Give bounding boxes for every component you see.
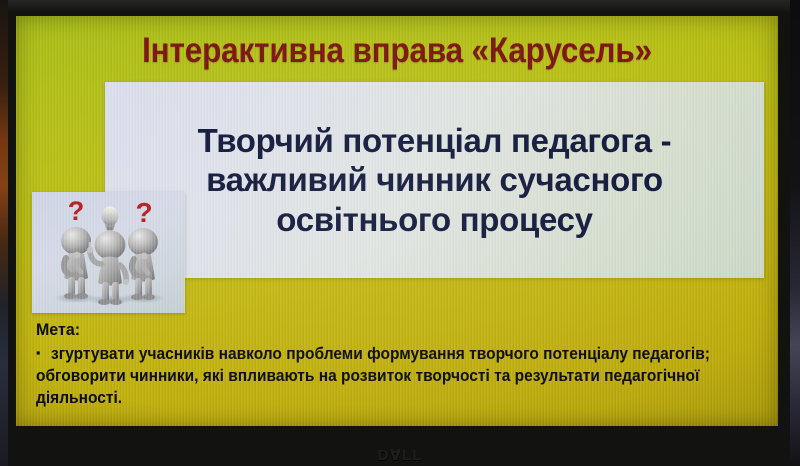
svg-text:?: ? — [68, 196, 85, 226]
heading-text: Творчий потенціал педагога - важливий чи… — [180, 121, 690, 240]
goal-label: Мета: — [36, 319, 717, 340]
bezel-top-sheen — [8, 0, 790, 14]
figure-center-idea — [87, 207, 129, 306]
dell-brand-logo: D∀LL — [0, 446, 800, 464]
goal-bullet-item: ▪згуртувати учасників навколо проблеми ф… — [36, 344, 717, 410]
slide-title: Інтерактивна вправа «Карусель» — [54, 33, 740, 69]
dell-monitor: Інтерактивна вправа «Карусель» Творчий п… — [0, 0, 800, 466]
svg-text:?: ? — [135, 197, 152, 228]
monitor-screen: Інтерактивна вправа «Карусель» Творчий п… — [16, 16, 778, 426]
heading-line-2: важливий чинник сучасного — [198, 160, 672, 200]
figure-left-thinking: ? — [61, 196, 91, 299]
heading-line-3: освітнього процесу — [198, 200, 672, 240]
clipart-illustration: ? — [32, 192, 185, 313]
heading-line-1: Творчий потенціал педагога - — [198, 121, 672, 161]
clipart-three-figures-image: ? — [32, 192, 185, 313]
goal-block: Мета: ▪згуртувати учасників навколо проб… — [36, 319, 760, 410]
goal-bullet-text: згуртувати учасників навколо проблеми фо… — [36, 345, 710, 407]
bullet-square-icon: ▪ — [36, 346, 51, 359]
figure-right-thinking: ? — [128, 197, 158, 300]
heading-panel: Творчий потенціал педагога - важливий чи… — [105, 82, 764, 278]
